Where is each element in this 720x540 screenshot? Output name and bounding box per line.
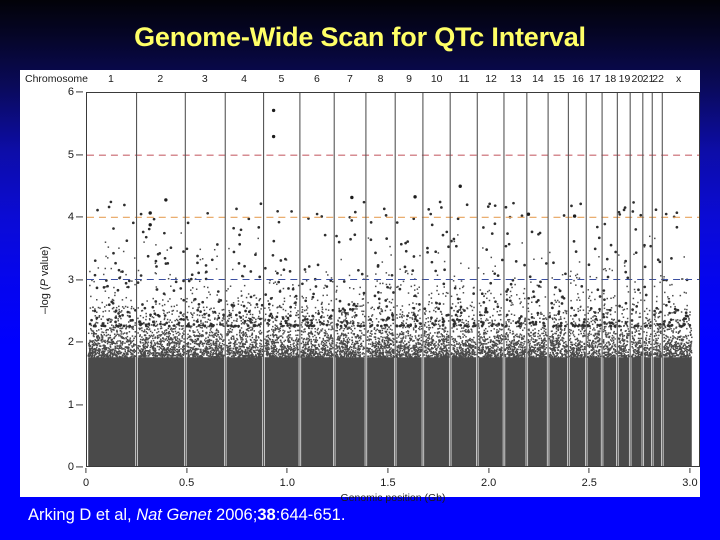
caption-year: 2006;	[216, 506, 257, 524]
caption-journal: Nat Genet	[136, 506, 211, 524]
x-tick-label-0: 0	[83, 477, 89, 489]
slide-canvas: Genome-Wide Scan for QTc Interval Chromo…	[0, 0, 720, 540]
top-signal-point-chr5-0	[272, 109, 275, 112]
scatter-canvas	[87, 93, 699, 466]
caption-pages: :644-651.	[276, 506, 346, 524]
x-axis: Genomic position (Gb) 00.51.01.52.02.53.…	[86, 468, 700, 498]
top-signal-point-chr5-1	[272, 135, 275, 138]
chromosome-axis: Chromosome 12345678910111213141516171819…	[20, 72, 700, 88]
top-signal-point-chr11-7	[459, 185, 462, 188]
x-tick-label-2.0: 2.0	[481, 477, 496, 489]
chromosome-label-1: 1	[108, 73, 114, 85]
caption-volume: 38	[257, 506, 275, 524]
x-tick-label-3.0: 3.0	[682, 477, 697, 489]
x-tick-label-2.5: 2.5	[582, 477, 597, 489]
y-tick-label-0: 0	[68, 461, 74, 473]
chromosome-label-3: 3	[202, 73, 208, 85]
chromosome-label-15: 15	[553, 73, 565, 85]
page-title: Genome-Wide Scan for QTc Interval	[0, 22, 720, 53]
threshold-lines	[87, 155, 699, 279]
chromosome-label-19: 19	[619, 73, 631, 85]
chromosome-label-7: 7	[347, 73, 353, 85]
y-tick-mark-4	[76, 216, 83, 217]
y-tick-mark-6	[76, 91, 83, 92]
y-tick-label-6: 6	[68, 86, 74, 98]
chromosome-label-20: 20	[632, 73, 644, 85]
figure-panel: Chromosome 12345678910111213141516171819…	[20, 70, 700, 497]
citation-caption: Arking D et al, Nat Genet 2006;38:644-65…	[28, 506, 345, 525]
chromosome-label-17: 17	[589, 73, 601, 85]
y-axis-label: –log (P value)	[39, 246, 51, 314]
y-tick-label-3: 3	[68, 274, 74, 286]
x-tick-mark-0	[85, 468, 86, 473]
y-tick-mark-0	[76, 466, 83, 467]
chromosome-axis-title: Chromosome	[25, 73, 88, 85]
chromosome-label-12: 12	[485, 73, 497, 85]
x-tick-label-0.5: 0.5	[179, 477, 194, 489]
y-tick-label-5: 5	[68, 149, 74, 161]
manhattan-plot-area	[86, 92, 700, 467]
y-tick-mark-1	[76, 404, 83, 405]
chromosome-label-13: 13	[510, 73, 522, 85]
x-tick-mark-2.0	[488, 468, 489, 473]
x-tick-mark-1.0	[287, 468, 288, 473]
chromosome-label-x: x	[676, 73, 681, 85]
top-signal-point-chr2-2	[164, 198, 167, 201]
top-signal-point-chr9-6	[413, 195, 416, 198]
chromosome-label-6: 6	[314, 73, 320, 85]
y-tick-mark-3	[76, 279, 83, 280]
x-tick-mark-0.5	[186, 468, 187, 473]
chromosome-label-10: 10	[431, 73, 443, 85]
y-axis: –log (P value) 0123456	[20, 92, 86, 467]
chromosome-label-8: 8	[378, 73, 384, 85]
chromosome-label-14: 14	[532, 73, 544, 85]
chromosome-label-4: 4	[241, 73, 247, 85]
chromosome-label-22: 22	[652, 73, 664, 85]
top-signal-points	[149, 109, 577, 227]
y-tick-label-1: 1	[68, 399, 74, 411]
x-axis-label: Genomic position (Gb)	[86, 492, 700, 504]
chromosome-label-16: 16	[572, 73, 584, 85]
chromosome-label-9: 9	[406, 73, 412, 85]
top-signal-point-chr13-9	[527, 213, 530, 216]
top-signal-point-chr2-4	[149, 223, 152, 226]
top-signal-point-chr16-8	[573, 214, 576, 217]
top-signal-point-chr7-5	[350, 196, 353, 199]
x-tick-mark-3.0	[689, 468, 690, 473]
y-tick-label-4: 4	[68, 211, 74, 223]
x-tick-mark-1.5	[387, 468, 388, 473]
y-tick-label-2: 2	[68, 336, 74, 348]
x-tick-label-1.5: 1.5	[380, 477, 395, 489]
chromosome-label-5: 5	[279, 73, 285, 85]
chromosome-label-2: 2	[157, 73, 163, 85]
y-tick-mark-2	[76, 341, 83, 342]
y-tick-mark-5	[76, 154, 83, 155]
x-tick-label-1.0: 1.0	[280, 477, 295, 489]
top-signal-point-chr2-3	[149, 211, 152, 214]
chromosome-label-18: 18	[605, 73, 617, 85]
caption-authors: Arking D et al,	[28, 506, 132, 524]
chromosome-label-11: 11	[459, 73, 470, 85]
x-tick-mark-2.5	[589, 468, 590, 473]
